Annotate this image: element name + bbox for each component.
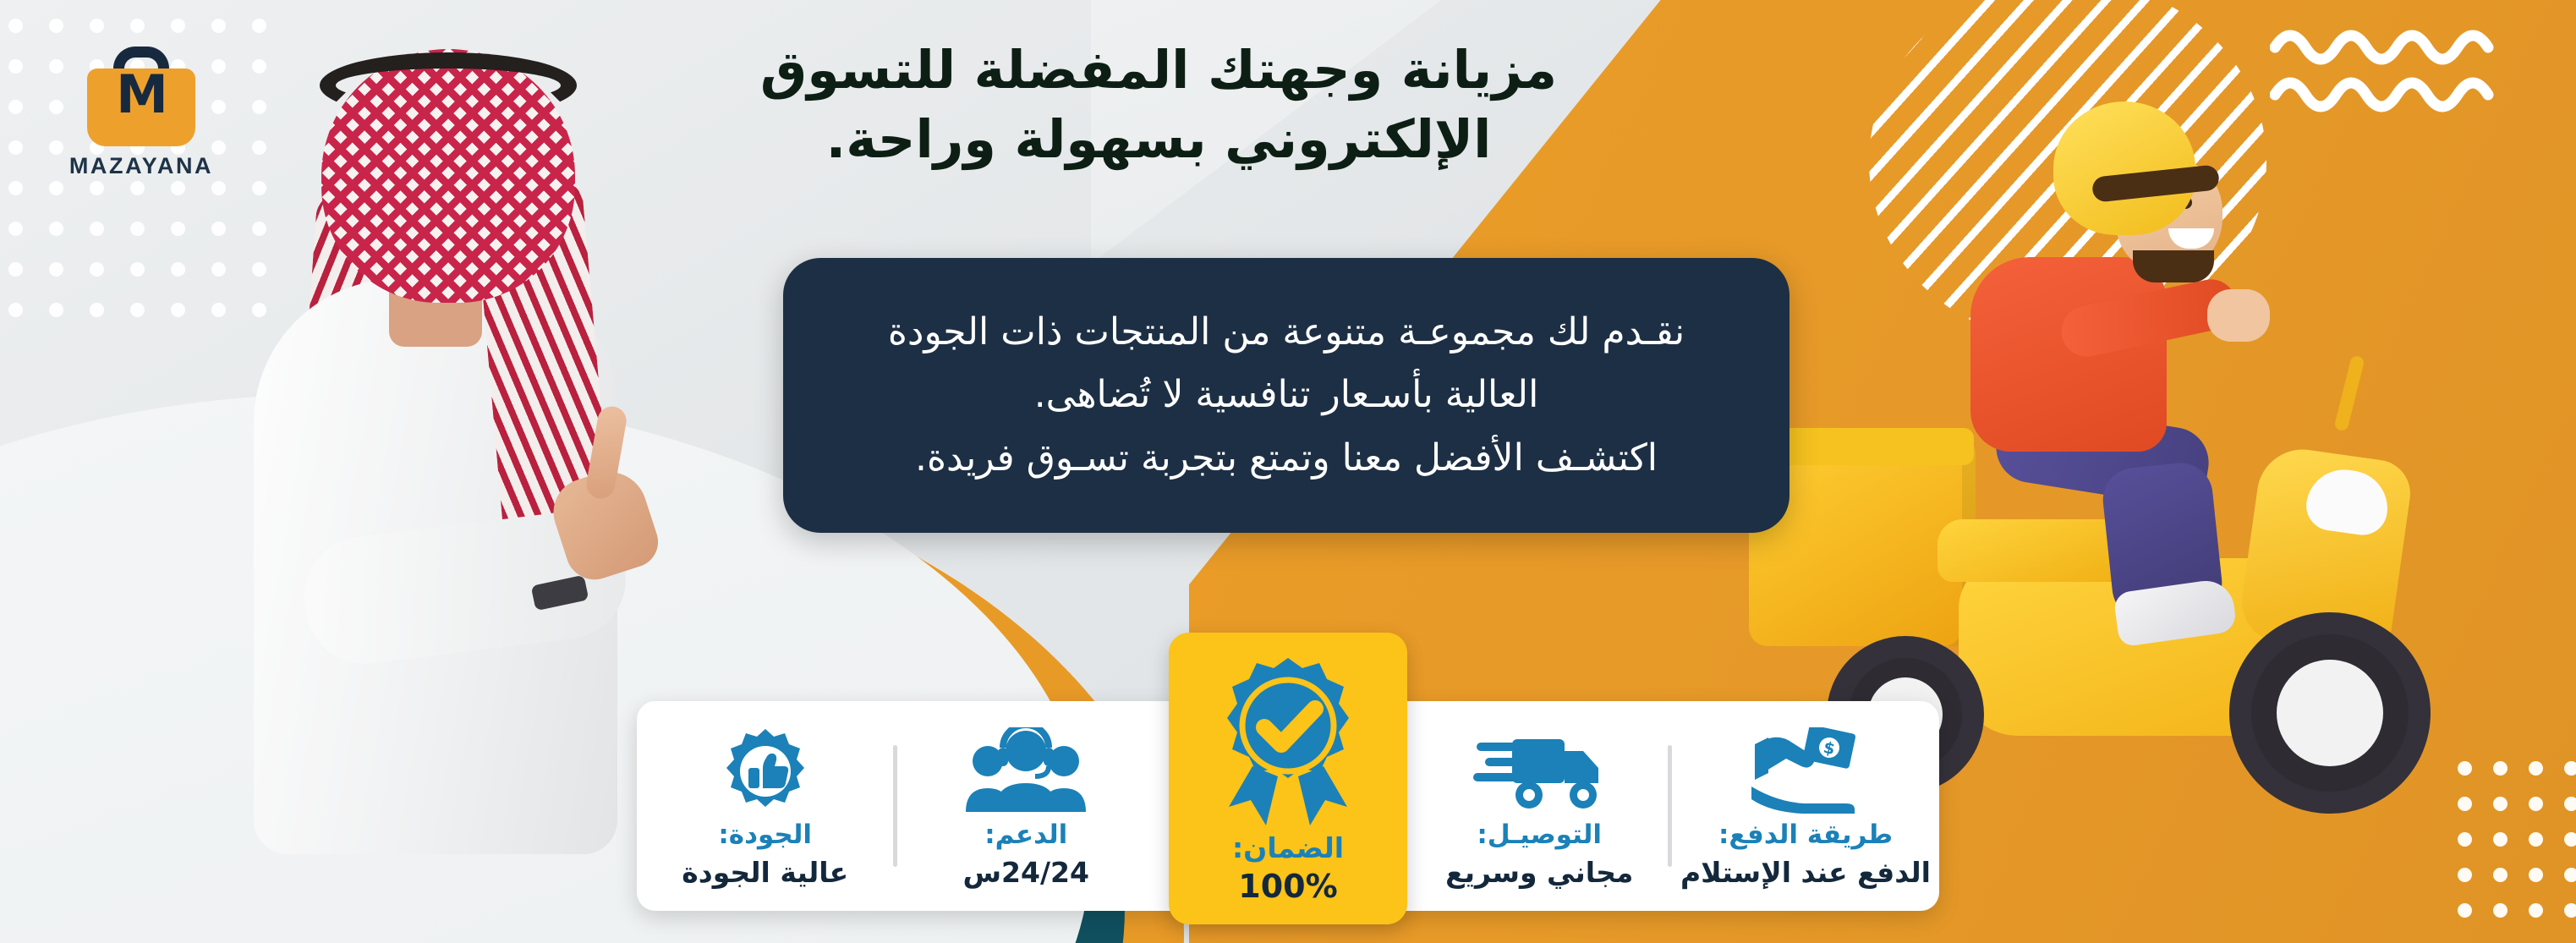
feature-payment-value: الدفع عند الإستلام [1680, 856, 1931, 890]
feature-support[interactable]: الدعم: 24/24س [897, 701, 1154, 911]
guarantee-badge-value: 100% [1238, 868, 1337, 907]
shopping-bag-icon: M [87, 47, 195, 146]
scooter-front-hub [2277, 660, 2383, 766]
description-callout-box: نقـدم لك مجموعـة متنوعة من المنتجات ذات … [783, 258, 1789, 533]
promo-banner: M MAZAYANA مزيانة وجهتك المفضلة للتسوق ا… [0, 0, 2576, 943]
feature-support-title: الدعم: [984, 820, 1067, 851]
headline: مزيانة وجهتك المفضلة للتسوق الإلكتروني ب… [710, 36, 1607, 174]
guarantee-badge[interactable]: الضمان: 100% [1169, 633, 1407, 924]
description-line-2: العالية بأسـعار تنافسية لا تُضاهى. [1034, 366, 1539, 424]
guarantee-badge-title: الضمان: [1232, 832, 1344, 864]
description-line-3: اكتشـف الأفضل معنا وتمتع بتجربة تسـوق فر… [915, 430, 1658, 487]
feature-quality-value: عالية الجودة [682, 856, 848, 890]
feature-quality[interactable]: الجودة: عالية الجودة [637, 701, 894, 911]
feature-delivery-title: التوصيـل: [1477, 820, 1602, 851]
cash-on-delivery-icon: $ [1743, 724, 1868, 815]
description-line-1: نقـدم لك مجموعـة متنوعة من المنتجات ذات … [888, 304, 1685, 361]
rider-hand [2207, 289, 2270, 342]
feature-delivery[interactable]: التوصيـل: مجاني وسريع [1411, 701, 1668, 911]
agal-cord [320, 52, 577, 118]
feature-support-value: 24/24س [963, 856, 1089, 890]
feature-payment[interactable]: $ طريقة الدفع: الدفع عند الإستلام [1672, 701, 1939, 911]
thumbs-up-badge-icon [718, 724, 813, 815]
rider-chin-strap [2133, 250, 2214, 282]
headline-line-2: الإلكتروني بسهولة وراحة. [710, 105, 1607, 174]
feature-delivery-value: مجاني وسريع [1445, 856, 1633, 890]
headline-line-1: مزيانة وجهتك المفضلة للتسوق [710, 36, 1607, 105]
presenter-photo [195, 0, 668, 846]
support-agents-icon [962, 724, 1089, 815]
rider-torso [1970, 257, 2167, 452]
scooter-mirror [2333, 354, 2365, 431]
rider-figure [1840, 101, 2229, 575]
delivery-truck-icon [1473, 724, 1605, 815]
brand-name: MAZAYANA [44, 155, 238, 178]
feature-payment-title: طريقة الدفع: [1718, 820, 1893, 851]
logo-letter: M [87, 69, 195, 121]
feature-quality-title: الجودة: [718, 820, 812, 851]
brand-logo[interactable]: M MAZAYANA [44, 47, 238, 178]
award-ribbon-check-icon [1197, 651, 1379, 829]
